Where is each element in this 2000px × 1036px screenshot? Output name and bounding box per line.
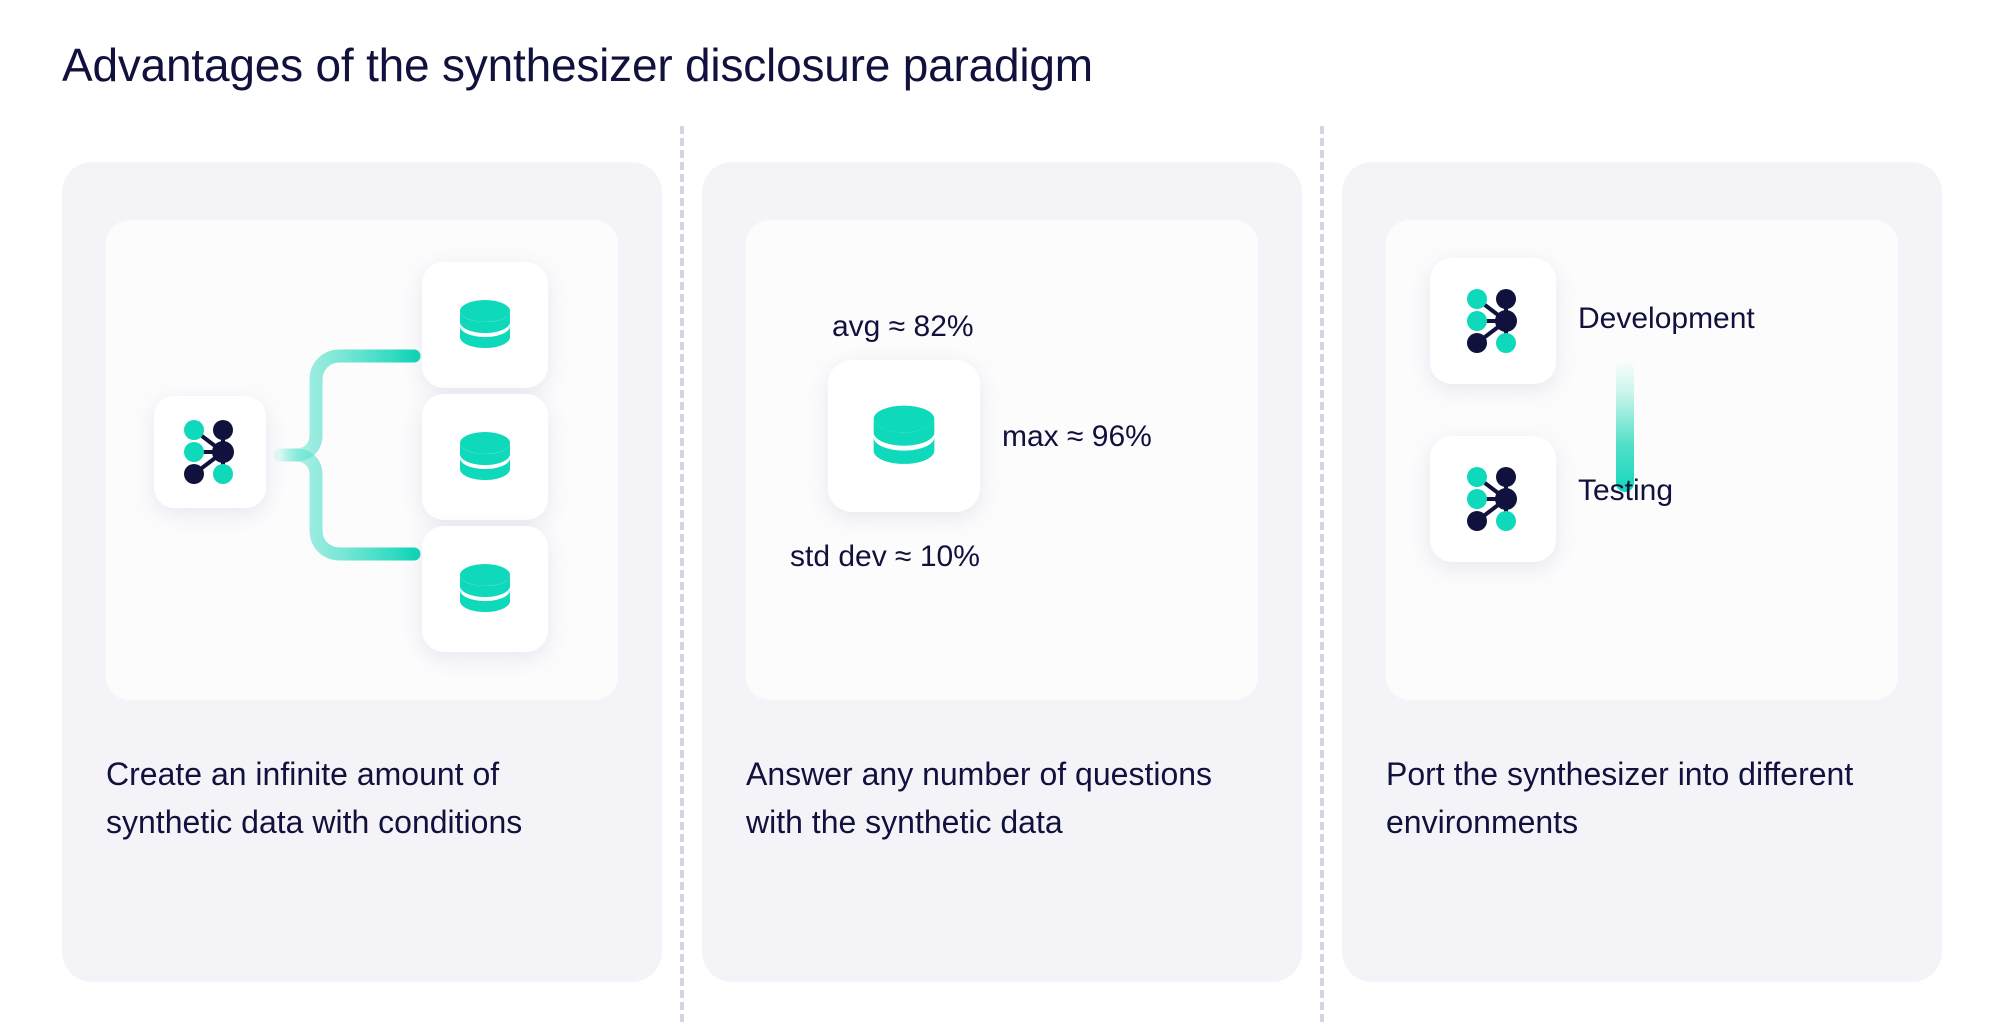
stat-std-dev: std dev ≈ 10% (790, 540, 980, 574)
database-tile-2[interactable] (422, 394, 548, 520)
card-row: Create an infinite amount of synthetic d… (62, 162, 1942, 982)
dashed-line (680, 126, 684, 1022)
database-cylinder-icon (457, 298, 513, 352)
database-cylinder-icon (457, 430, 513, 484)
environment-label-testing: Testing (1578, 474, 1673, 508)
synthesizer-tile-testing[interactable] (1430, 436, 1556, 562)
card-infinite-synthetic-data[interactable]: Create an infinite amount of synthetic d… (62, 162, 662, 982)
card3-visual-panel: Development (1386, 220, 1898, 700)
synthesizer-tile-development[interactable] (1430, 258, 1556, 384)
vertical-gradient-bar (1616, 360, 1634, 492)
card-caption: Create an infinite amount of synthetic d… (106, 750, 632, 846)
card-port-synthesizer[interactable]: Development (1342, 162, 1942, 982)
page-title: Advantages of the synthesizer disclosure… (62, 36, 1093, 94)
synthesizer-node-graph-icon (1464, 465, 1522, 533)
card1-visual-panel (106, 220, 618, 700)
card-divider-1 (662, 162, 702, 982)
card-divider-2 (1302, 162, 1342, 982)
database-cylinder-icon (457, 562, 513, 616)
stat-max: max ≈ 96% (1002, 420, 1152, 454)
card-caption: Port the synthesizer into different envi… (1386, 750, 1912, 846)
card-caption: Answer any number of questions with the … (746, 750, 1272, 846)
database-tile-main[interactable] (828, 360, 980, 512)
card-answer-any-questions[interactable]: avg ≈ 82% max ≈ 96% std dev ≈ 10% Answer… (702, 162, 1302, 982)
environment-label-development: Development (1578, 302, 1755, 336)
stat-avg: avg ≈ 82% (832, 310, 974, 344)
database-tile-1[interactable] (422, 262, 548, 388)
slide-canvas: Advantages of the synthesizer disclosure… (0, 0, 2000, 1036)
database-cylinder-icon (870, 403, 938, 469)
curly-brace-connector (274, 340, 426, 570)
synthesizer-node-graph-icon (181, 418, 239, 486)
synthesizer-node-graph-icon (1464, 287, 1522, 355)
dashed-line (1320, 126, 1324, 1022)
database-tile-3[interactable] (422, 526, 548, 652)
synthesizer-tile[interactable] (154, 396, 266, 508)
card2-visual-panel: avg ≈ 82% max ≈ 96% std dev ≈ 10% (746, 220, 1258, 700)
